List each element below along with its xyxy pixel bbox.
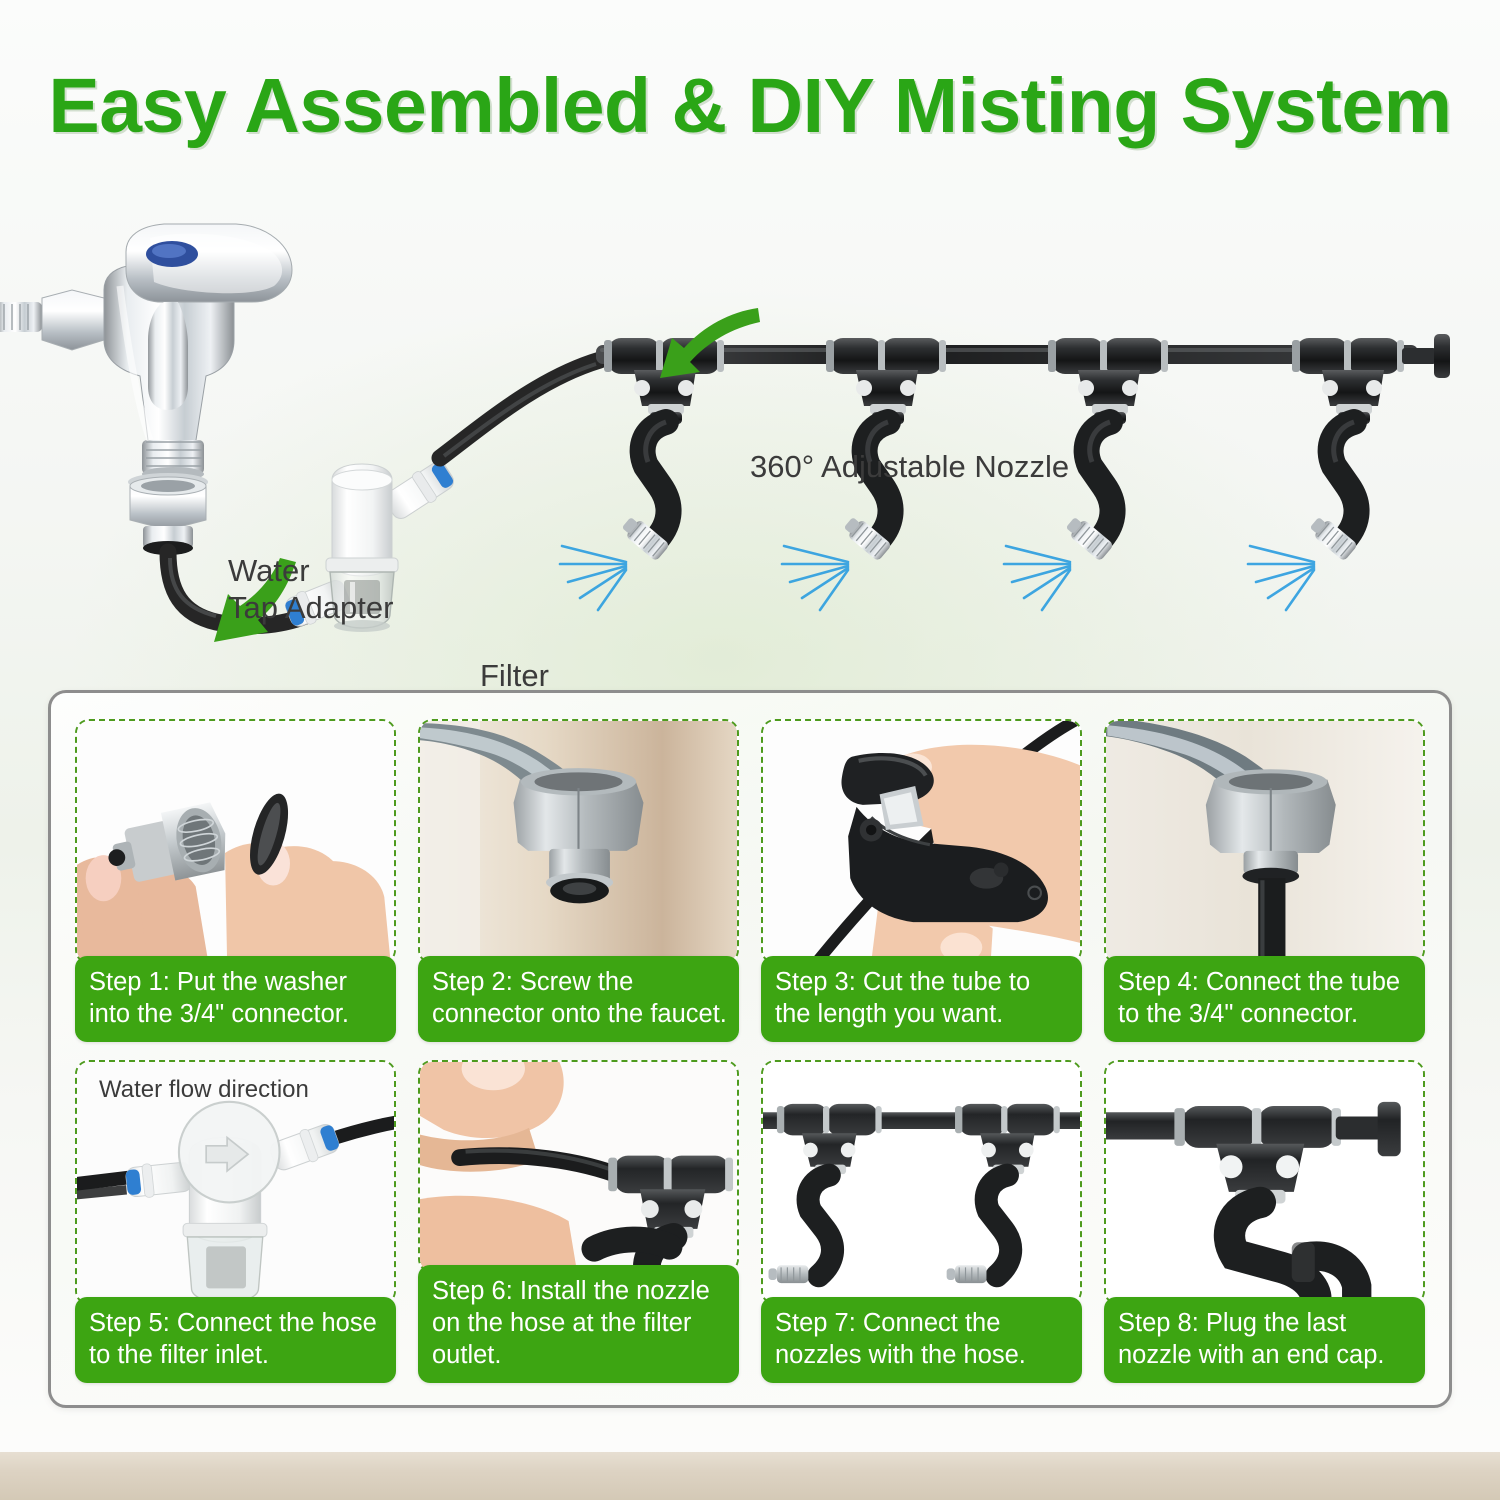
- step-photo-4: [1104, 719, 1425, 964]
- step-caption-1: Step 1: Put the washer into the 3/4" con…: [75, 956, 396, 1042]
- end-cap-icon: [1378, 1102, 1401, 1156]
- label-filter: Filter: [480, 657, 549, 694]
- step-photo-8: [1104, 1060, 1425, 1305]
- end-cap: [1434, 334, 1450, 378]
- step-card-8[interactable]: Step 8: Plug the last nozzle with an end…: [1104, 1060, 1425, 1383]
- steps-panel: Step 1: Put the washer into the 3/4" con…: [48, 690, 1452, 1408]
- step-caption-4: Step 4: Connect the tube to the 3/4" con…: [1104, 956, 1425, 1042]
- bottom-shelf: [0, 1452, 1500, 1500]
- step-photo-1: [75, 719, 396, 964]
- steps-grid: Step 1: Put the washer into the 3/4" con…: [51, 693, 1449, 1405]
- label-water-tap-adapter: Water Tap Adapter: [228, 552, 393, 626]
- step-card-7[interactable]: Step 7: Connect the nozzles with the hos…: [761, 1060, 1082, 1383]
- step-card-3[interactable]: Step 3: Cut the tube to the length you w…: [761, 719, 1082, 1042]
- step-photo-2: [418, 719, 739, 964]
- step-caption-5: Step 5: Connect the hose to the filter i…: [75, 1297, 396, 1383]
- step-caption-7: Step 7: Connect the nozzles with the hos…: [761, 1297, 1082, 1383]
- step-photo-3: [761, 719, 1082, 964]
- water-flow-direction-label: Water flow direction: [99, 1076, 309, 1104]
- step-photo-7: [761, 1060, 1082, 1305]
- step-photo-5: Water flow direction: [75, 1060, 396, 1305]
- hero-diagram: 360° Adjustable Nozzle Water Tap Adapter…: [0, 190, 1500, 660]
- step-card-2[interactable]: Step 2: Screw the connector onto the fau…: [418, 719, 739, 1042]
- step-caption-6: Step 6: Install the nozzle on the hose a…: [418, 1265, 739, 1383]
- step-card-5[interactable]: Water flow direction: [75, 1060, 396, 1383]
- step-card-6[interactable]: Step 6: Install the nozzle on the hose a…: [418, 1060, 739, 1383]
- faucet-illustration: [0, 224, 292, 481]
- label-adjustable-nozzle: 360° Adjustable Nozzle: [750, 448, 1069, 485]
- tap-adapter-illustration: [128, 473, 208, 555]
- step-caption-3: Step 3: Cut the tube to the length you w…: [761, 956, 1082, 1042]
- step-card-4[interactable]: Step 4: Connect the tube to the 3/4" con…: [1104, 719, 1425, 1042]
- step-caption-2: Step 2: Screw the connector onto the fau…: [418, 956, 739, 1042]
- step-photo-6: [418, 1060, 739, 1273]
- page-title: Easy Assembled & DIY Misting System: [0, 62, 1500, 151]
- step-card-1[interactable]: Step 1: Put the washer into the 3/4" con…: [75, 719, 396, 1042]
- step-caption-8: Step 8: Plug the last nozzle with an end…: [1104, 1297, 1425, 1383]
